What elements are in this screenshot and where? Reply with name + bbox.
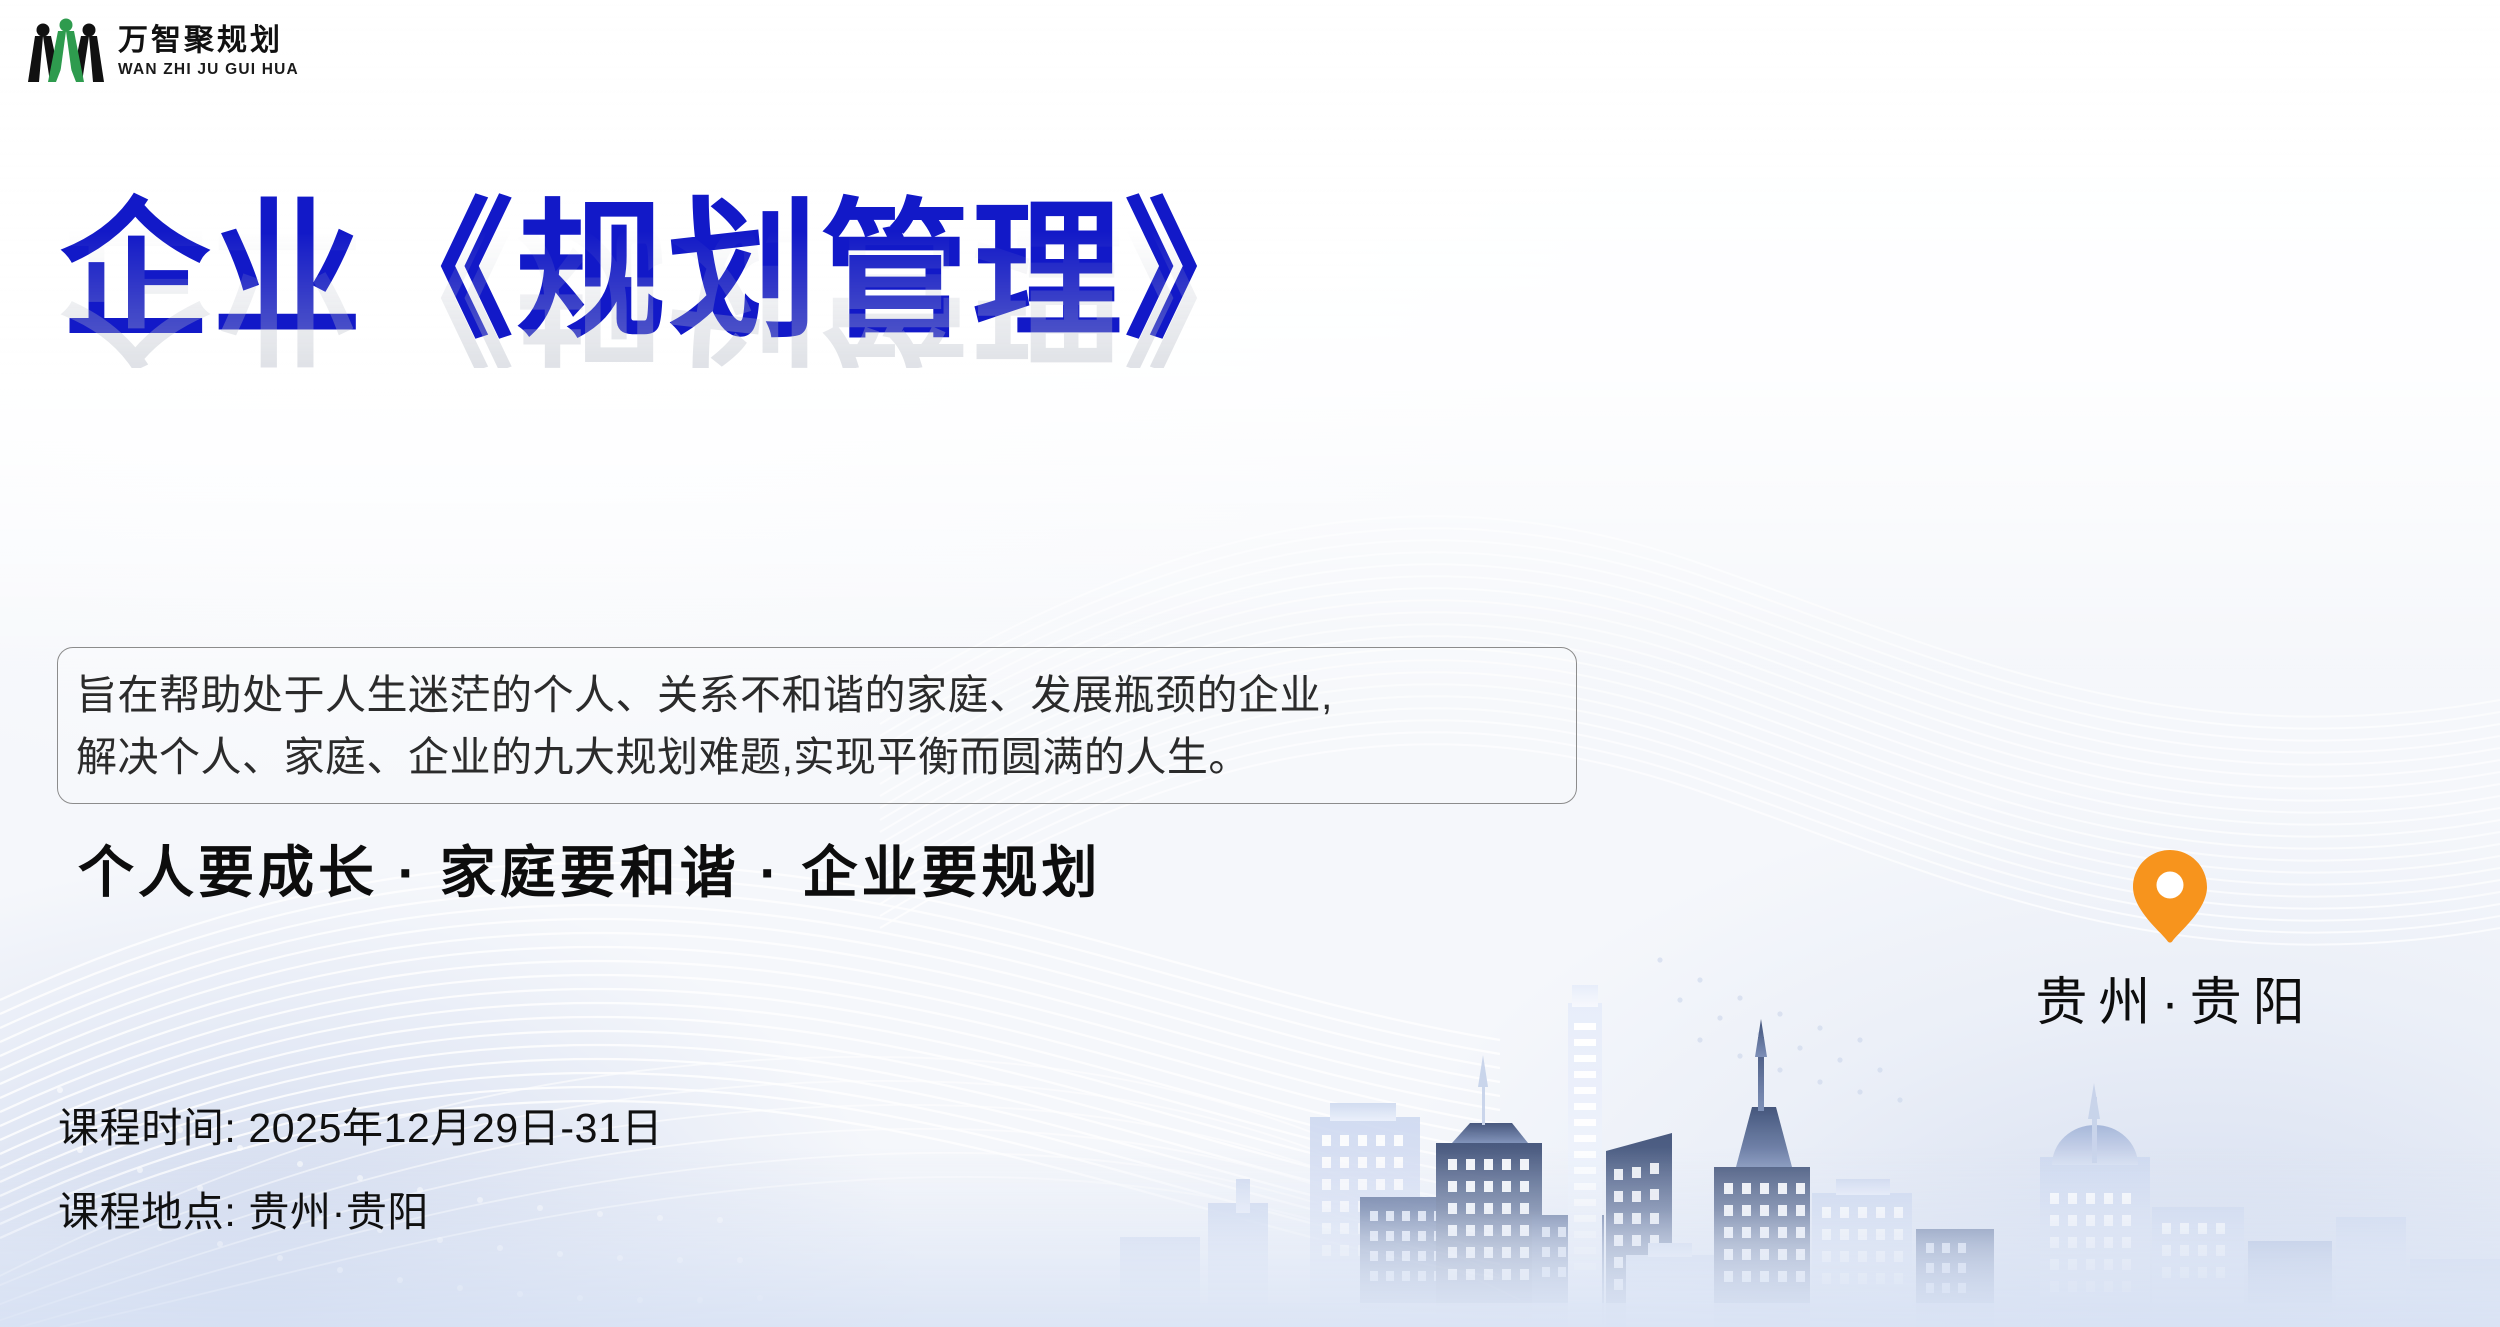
description-box: 旨在帮助处于人生迷茫的个人、关系不和谐的家庭、发展瓶颈的企业, 解决个人、家庭、…	[57, 647, 1577, 804]
tagline: 个人要成长 · 家庭要和谐 · 企业要规划	[78, 828, 1102, 909]
brand-name-en: WAN ZHI JU GUI HUA	[118, 61, 299, 80]
location-group: 贵州·贵阳	[1960, 848, 2380, 1035]
brand-logo-text: 万智聚规划 WAN ZHI JU GUI HUA	[118, 24, 299, 79]
banner-canvas: 万智聚规划 WAN ZHI JU GUI HUA 企业《规划管理》 企业《规划管…	[0, 0, 2500, 1327]
description-line-2: 解决个人、家庭、企业的九大规划难题,实现平衡而圆满的人生。	[76, 726, 1554, 788]
location-name: 贵州·贵阳	[2024, 960, 2315, 1035]
map-pin-icon	[2131, 848, 2209, 944]
course-place-row: 课程地点: 贵州·贵阳	[58, 1178, 663, 1238]
brand-logo[interactable]: 万智聚规划 WAN ZHI JU GUI HUA	[28, 16, 299, 88]
brand-name-cn: 万智聚规划	[118, 24, 299, 58]
hero-headline-group: 企业《规划管理》 企业《规划管理》	[60, 196, 1620, 496]
description-line-1: 旨在帮助处于人生迷茫的个人、关系不和谐的家庭、发展瓶颈的企业,	[76, 664, 1554, 726]
page-title: 企业《规划管理》	[60, 196, 1620, 346]
three-people-logo-icon	[28, 16, 104, 88]
course-time-row: 课程时间: 2025年12月29日-31日	[58, 1094, 663, 1154]
course-info-group: 课程时间: 2025年12月29日-31日 课程地点: 贵州·贵阳	[58, 1094, 663, 1238]
